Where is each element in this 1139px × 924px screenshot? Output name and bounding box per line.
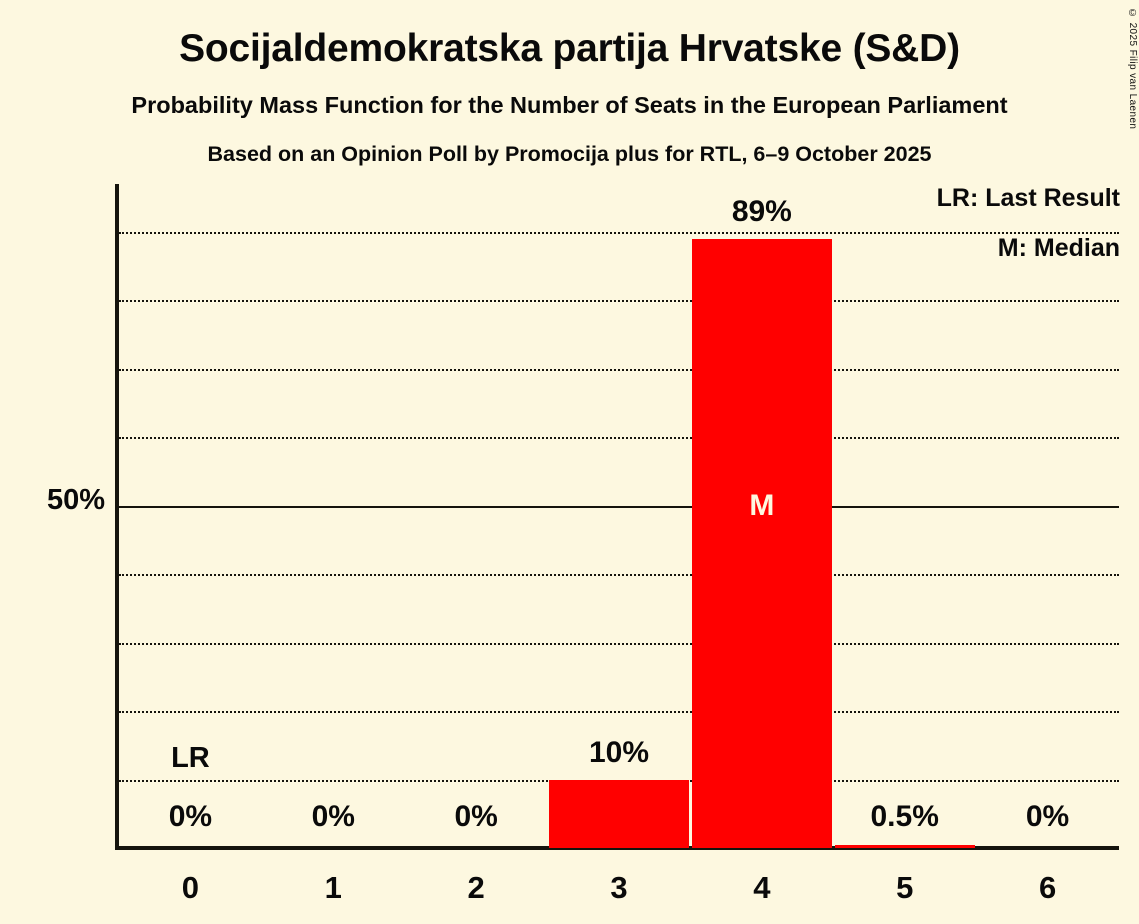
value-label-seats-5: 0.5% bbox=[833, 802, 976, 832]
page-title: Socijaldemokratska partija Hrvatske (S&D… bbox=[0, 0, 1139, 68]
value-label-seats-6: 0% bbox=[976, 802, 1119, 832]
gridline-50 bbox=[119, 506, 1119, 508]
gridline-80 bbox=[119, 300, 1119, 302]
gridline-90 bbox=[119, 232, 1119, 234]
bar-seats-5[interactable] bbox=[835, 845, 975, 848]
chart-subtitle: Probability Mass Function for the Number… bbox=[0, 68, 1139, 118]
chart-header: Socijaldemokratska partija Hrvatske (S&D… bbox=[0, 0, 1139, 165]
x-tick-label-5: 5 bbox=[833, 872, 976, 903]
value-label-seats-0: 0% bbox=[119, 802, 262, 832]
last-result-marker: LR bbox=[119, 744, 262, 773]
value-label-seats-3: 10% bbox=[548, 738, 691, 768]
gridline-30 bbox=[119, 643, 1119, 645]
bar-seats-4[interactable]: M bbox=[692, 239, 832, 848]
value-label-seats-1: 0% bbox=[262, 802, 405, 832]
value-label-seats-2: 0% bbox=[405, 802, 548, 832]
copyright-notice: © 2025 Filip van Laenen bbox=[1127, 8, 1138, 129]
gridline-40 bbox=[119, 574, 1119, 576]
y-axis-tick-label-50: 50% bbox=[0, 486, 105, 515]
gridline-20 bbox=[119, 711, 1119, 713]
x-tick-label-6: 6 bbox=[976, 872, 1119, 903]
chart-source-note: Based on an Opinion Poll by Promocija pl… bbox=[0, 118, 1139, 166]
x-tick-label-0: 0 bbox=[119, 872, 262, 903]
x-tick-label-2: 2 bbox=[405, 872, 548, 903]
gridline-60 bbox=[119, 437, 1119, 439]
bar-seats-3[interactable] bbox=[549, 780, 689, 848]
gridline-70 bbox=[119, 369, 1119, 371]
x-tick-label-4: 4 bbox=[690, 872, 833, 903]
x-tick-label-3: 3 bbox=[548, 872, 691, 903]
median-marker: M bbox=[692, 491, 832, 521]
x-tick-label-1: 1 bbox=[262, 872, 405, 903]
value-label-seats-4: 89% bbox=[690, 197, 833, 227]
